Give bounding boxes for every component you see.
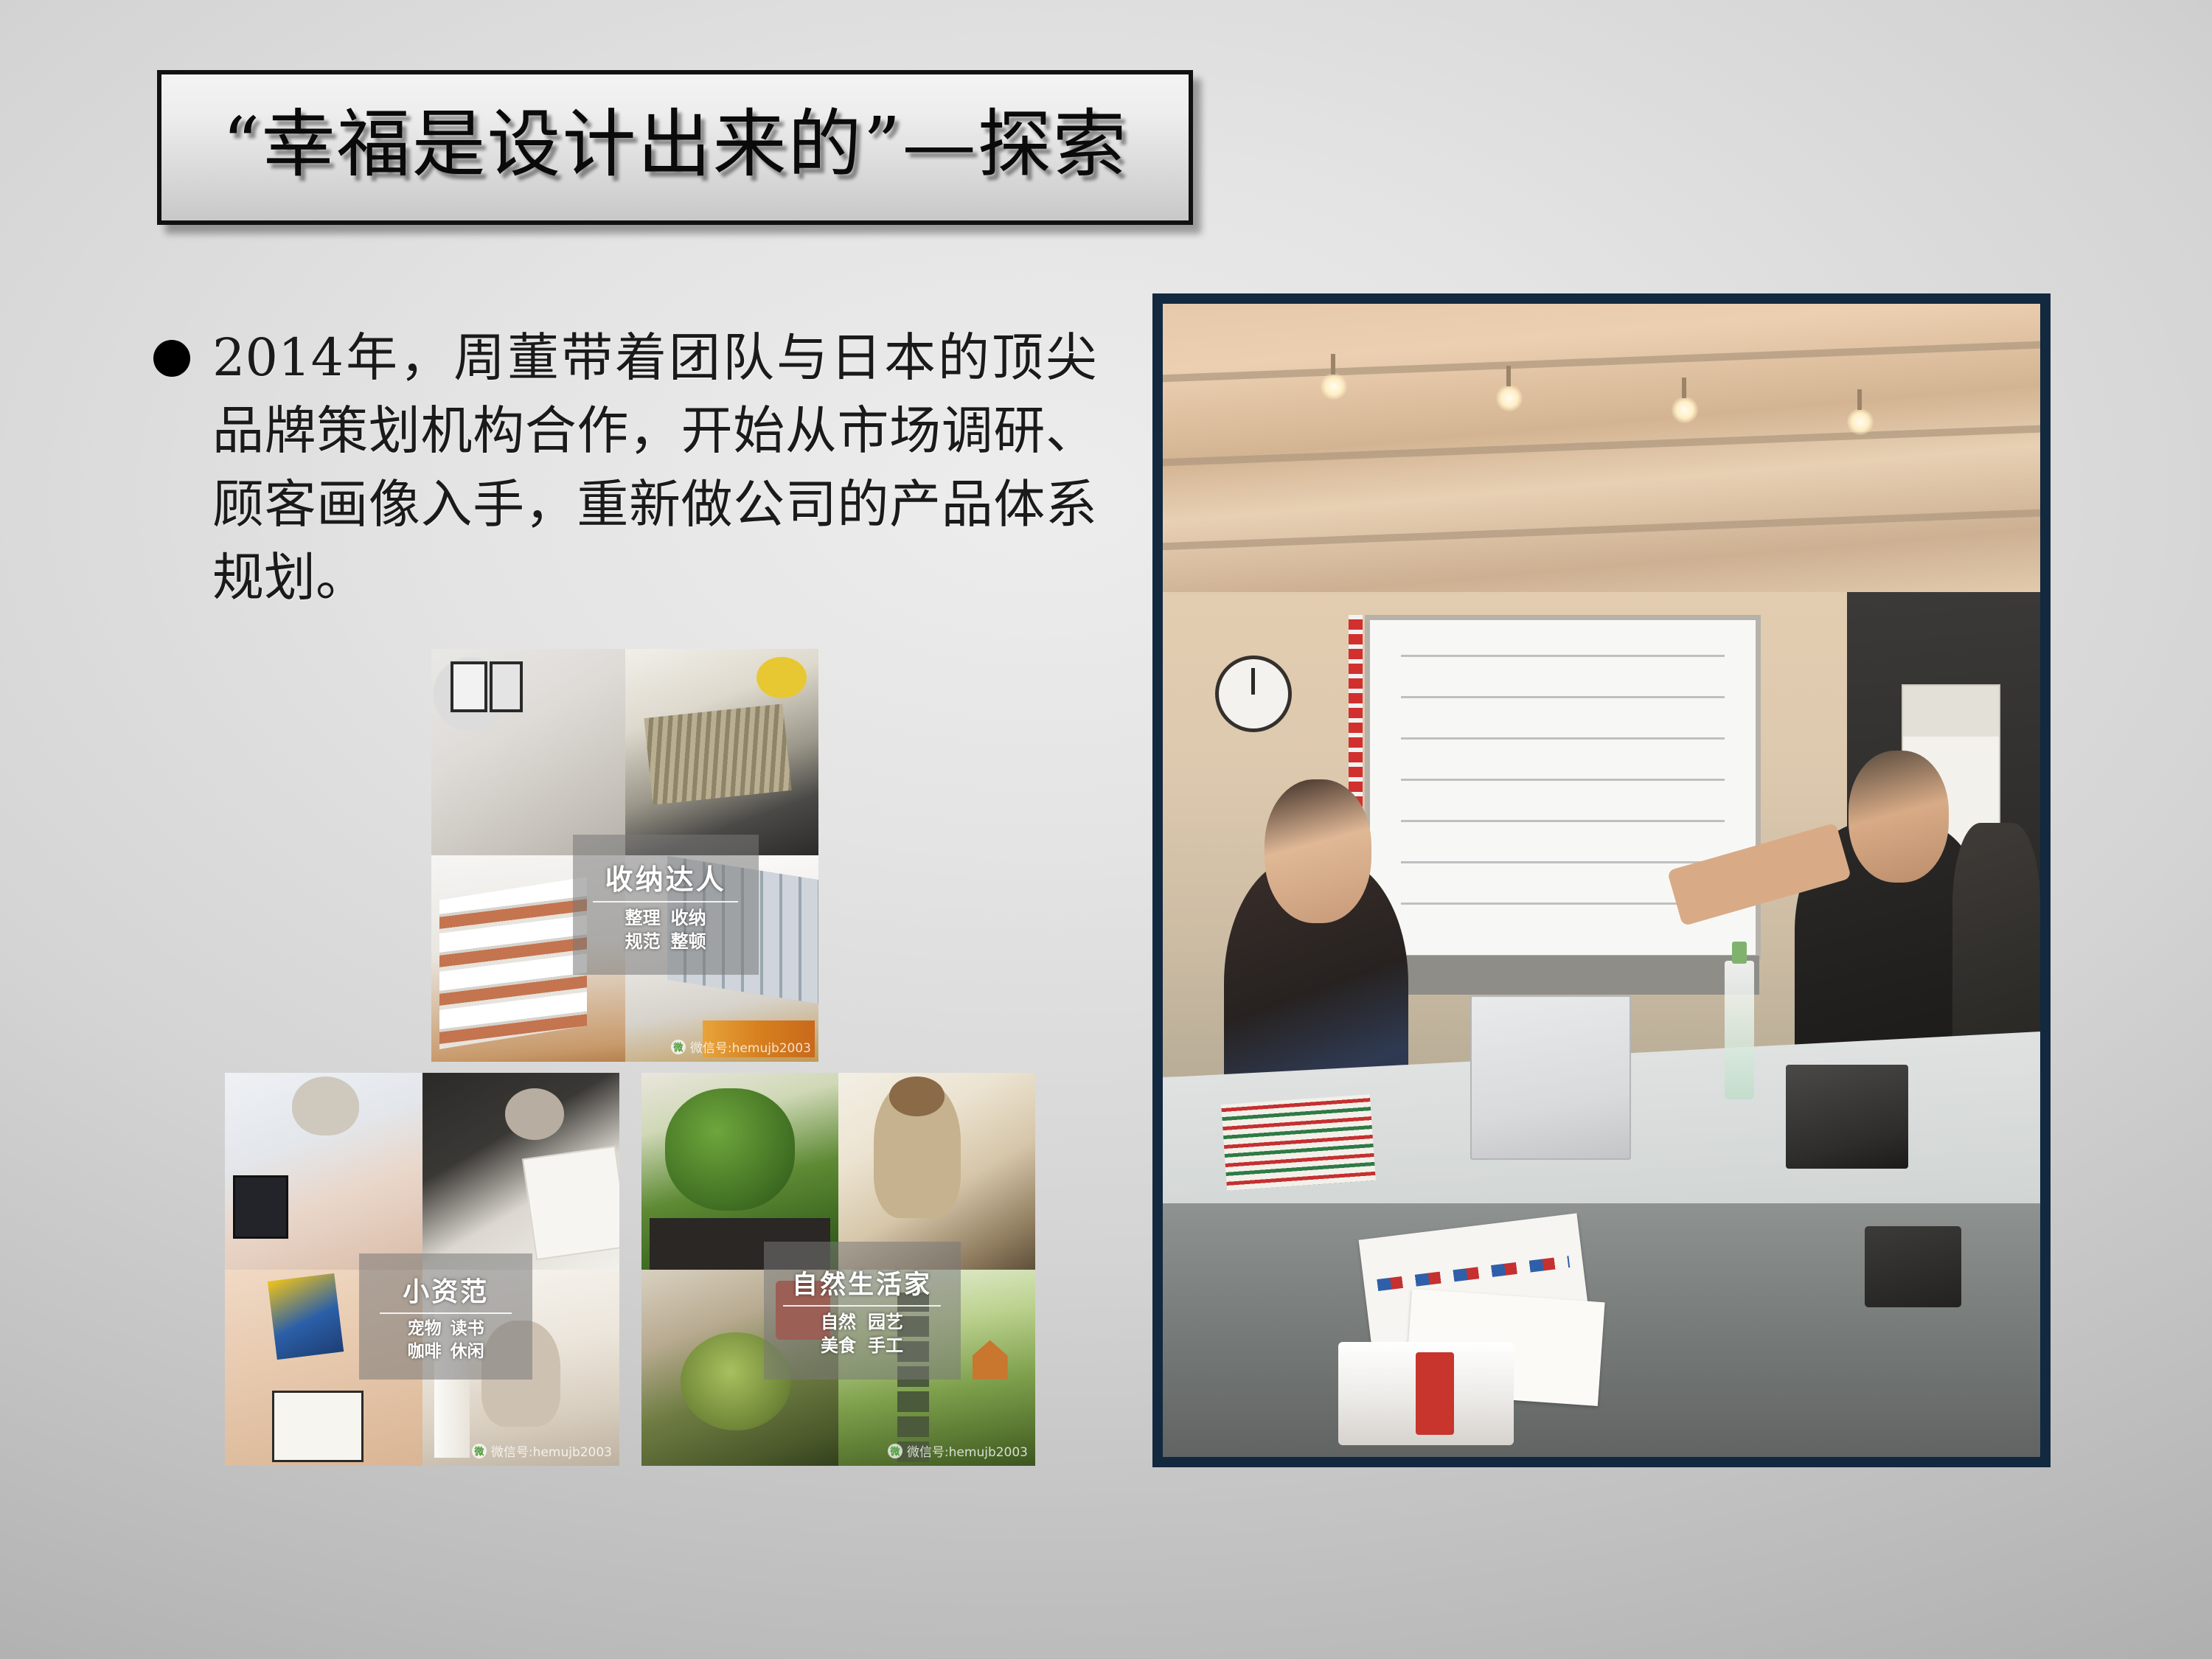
collage-cell-kitchen-drawer: [625, 649, 819, 855]
bullet-text: 2014年，周董带着团队与日本的顶尖品牌策划机构合作，开始从市场调研、顾客画像入…: [212, 321, 1097, 615]
camcorder: [1786, 1065, 1909, 1169]
track-light-icon: [1496, 385, 1523, 411]
collage-subtag: 整顿: [671, 931, 706, 953]
bullet-dot-icon: [153, 340, 190, 377]
collage-cell-woman-herbs: [838, 1073, 1035, 1270]
meeting-room-photo: [1152, 293, 2051, 1467]
ceiling-beam: [1152, 507, 2051, 552]
collage-xiaozi: 小资范 宠物 读书 咖啡 休闲 微 微信号:hemujb2003: [225, 1073, 619, 1466]
mobile-phone: [1865, 1226, 1961, 1307]
wechat-icon: 微: [472, 1444, 487, 1458]
track-light-icon: [1672, 397, 1698, 423]
paper-cups: [1338, 1342, 1514, 1446]
collage-cell-book-coffee: [422, 1073, 620, 1270]
collage-subtag: 宠物: [408, 1318, 442, 1340]
collage-subtag: 咖啡: [408, 1341, 442, 1363]
collage-subtag: 自然: [821, 1311, 856, 1333]
watermark-text: 微信号:hemujb2003: [907, 1441, 1028, 1460]
page-title: “幸福是设计出来的”—探索: [222, 108, 1127, 187]
track-light-icon: [1321, 373, 1347, 400]
collage-caption-storage: 收纳达人 整理 收纳 规范 整顿: [573, 835, 759, 975]
collage-caption-title: 自然生活家: [792, 1264, 932, 1301]
collage-subtag: 读书: [451, 1318, 484, 1340]
wechat-icon: 微: [671, 1040, 686, 1054]
photo-ceiling: [1163, 304, 2040, 604]
collage-subtag: 规范: [625, 931, 661, 953]
collage-storage: 收纳达人 整理 收纳 规范 整顿 微 微信号:hemujb2003: [431, 649, 818, 1062]
wall-clock-icon: [1215, 655, 1292, 732]
collage-subtag: 手工: [868, 1335, 903, 1357]
bullet-list-item: 2014年，周董带着团队与日本的顶尖品牌策划机构合作，开始从市场调研、顾客画像入…: [153, 321, 1156, 615]
collage-subtag: 休闲: [451, 1341, 484, 1363]
wechat-icon: 微: [888, 1444, 902, 1458]
collage-subtag: 园艺: [868, 1311, 903, 1333]
collage-caption-subtags: 自然 园艺 美食 手工: [821, 1311, 903, 1357]
ceiling-beam: [1152, 339, 2051, 383]
collage-ziran: 自然生活家 自然 园艺 美食 手工 微 微信号:hemujb2003: [641, 1073, 1035, 1466]
calendar-header: [1903, 686, 2000, 737]
collage-caption-title: 收纳达人: [605, 857, 726, 897]
slide-root: “幸福是设计出来的”—探索 2014年，周董带着团队与日本的顶尖品牌策划机构合作…: [0, 0, 2212, 1659]
watermark-text: 微信号:hemujb2003: [690, 1037, 811, 1056]
collage-caption-title: 小资范: [403, 1270, 489, 1309]
collage-watermark: 微 微信号:hemujb2003: [888, 1441, 1028, 1460]
collage-cell-herb-planter: [641, 1073, 838, 1270]
collage-cell-bed-storage: [431, 649, 625, 855]
collage-subtag: 美食: [821, 1335, 856, 1357]
collage-watermark: 微 微信号:hemujb2003: [472, 1441, 612, 1460]
collage-cell-cat-bed: [225, 1073, 422, 1270]
collage-watermark: 微 微信号:hemujb2003: [671, 1037, 811, 1056]
ceiling-beam: [1152, 423, 2051, 467]
laptop: [1470, 995, 1631, 1160]
water-bottle: [1725, 961, 1754, 1099]
collage-caption-rule: [593, 901, 738, 902]
collage-caption-xiaozi: 小资范 宠物 读书 咖啡 休闲: [359, 1253, 532, 1380]
watermark-text: 微信号:hemujb2003: [491, 1441, 612, 1460]
collage-caption-subtags: 整理 收纳 规范 整顿: [625, 907, 706, 953]
slide-title-box: “幸福是设计出来的”—探索: [157, 70, 1193, 225]
collage-subtag: 整理: [625, 907, 661, 929]
collage-caption-ziran: 自然生活家 自然 园艺 美食 手工: [764, 1242, 961, 1380]
collage-caption-subtags: 宠物 读书 咖啡 休闲: [408, 1318, 484, 1363]
whiteboard-tray: [1356, 956, 1759, 995]
gift-boxes: [1221, 1094, 1376, 1191]
collage-subtag: 收纳: [671, 907, 706, 929]
collage-caption-rule: [380, 1312, 512, 1314]
collage-caption-rule: [783, 1305, 941, 1307]
